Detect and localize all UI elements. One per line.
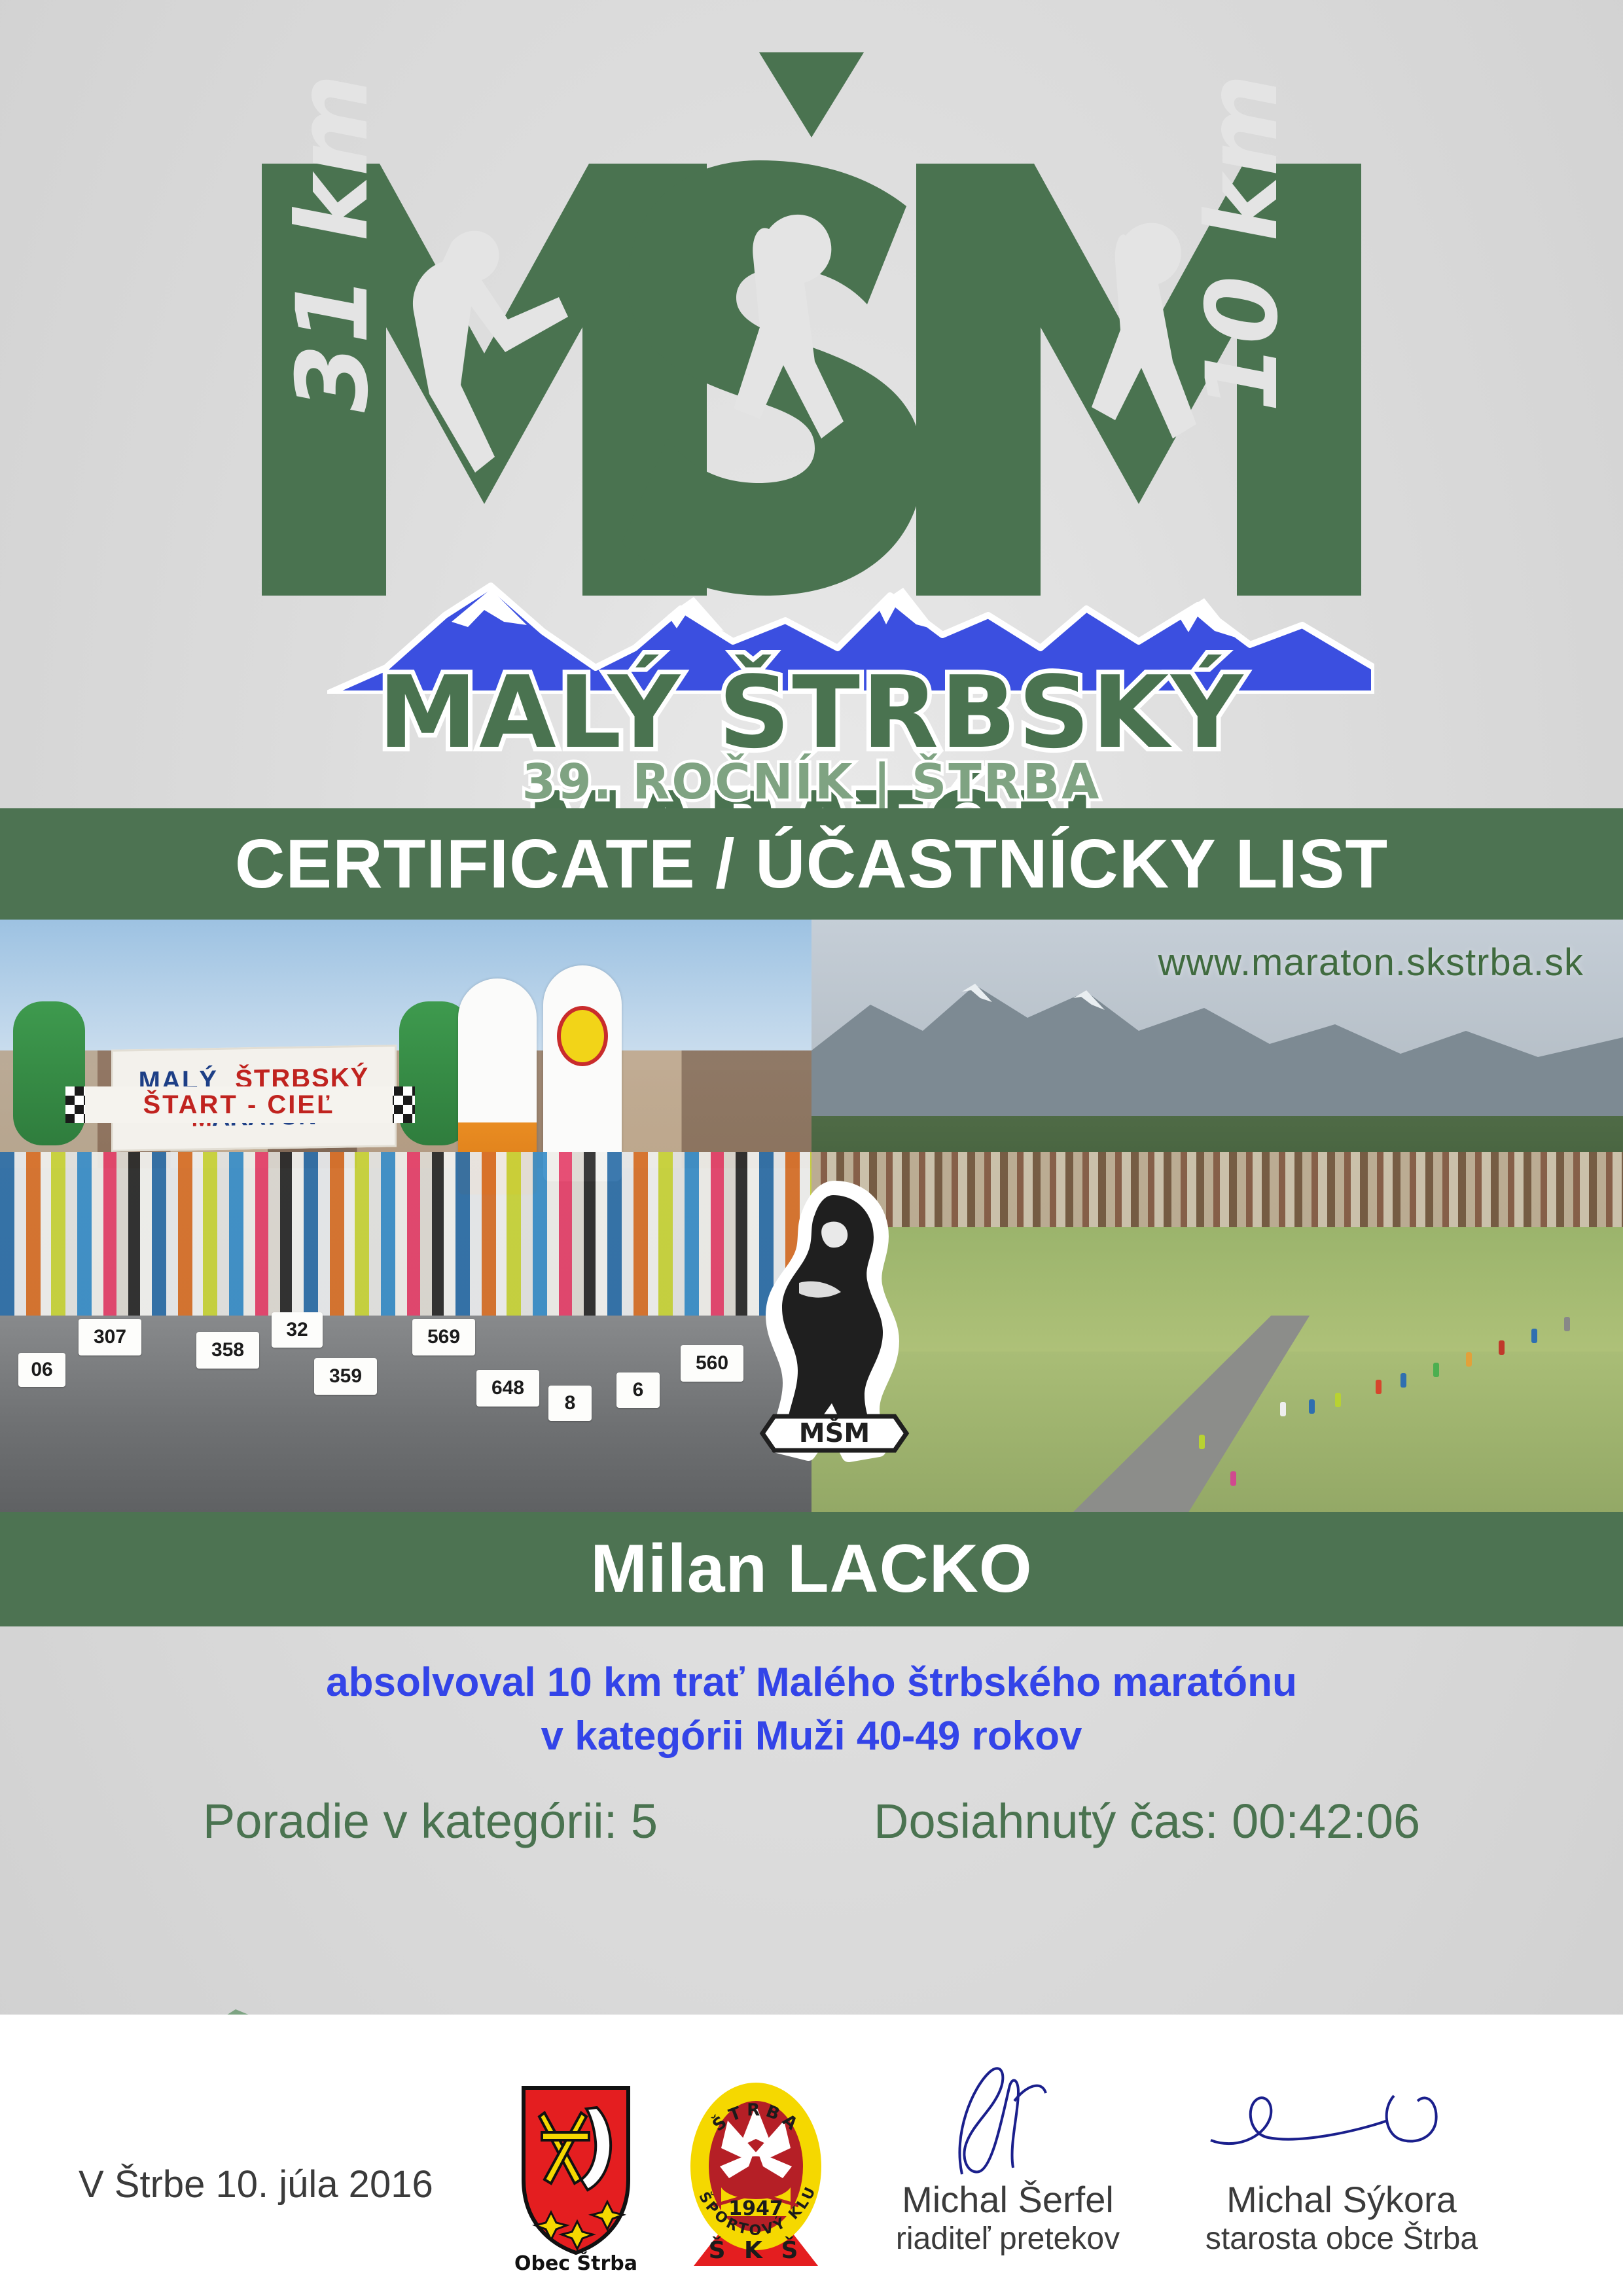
time-value: 00:42:06	[1232, 1794, 1420, 1848]
detail-line-1: absolvoval 10 km trať Malého štrbského m…	[0, 1656, 1623, 1710]
rank-label: Poradie v kategórii:	[203, 1794, 617, 1848]
course-runner	[1376, 1380, 1382, 1394]
logo-subtitle: 39. ROČNÍK | ŠTRBA	[170, 754, 1453, 810]
participant-stats: Poradie v kategórii: 5 Dosiahnutý čas: 0…	[0, 1793, 1623, 1849]
course-runner	[1564, 1317, 1570, 1331]
photo-course-landscape: www.maraton.skstrba.sk	[811, 920, 1623, 1512]
signature-role: riaditeľ pretekov	[838, 2220, 1178, 2258]
signature-role: starosta obce Štrba	[1171, 2220, 1512, 2258]
course-runner	[1499, 1340, 1505, 1355]
signature-scribble	[838, 2062, 1178, 2179]
bib-number: 569	[412, 1319, 475, 1355]
msm-runner-badge-icon: MŠM	[736, 1178, 933, 1466]
distance-right-label: 10 km	[1186, 74, 1300, 412]
certificate-page: 31 km 10 km MALÝ ŠTRBSKÝ MARATÓN 39. ROČ…	[0, 0, 1623, 2296]
bib-number: 6	[616, 1372, 660, 1408]
course-runner	[1400, 1373, 1406, 1388]
sks-flag-emblem	[557, 1006, 608, 1066]
footer: V Štrbe 10. júla 2016 Obec Štrba	[0, 2042, 1623, 2296]
bib-number: 359	[314, 1358, 377, 1395]
course-runner	[1230, 1471, 1236, 1486]
participant-details: absolvoval 10 km trať Malého štrbského m…	[0, 1656, 1623, 1763]
distance-left-label: 31 km	[276, 74, 390, 412]
signature-name: Michal Šerfel	[838, 2179, 1178, 2220]
course-runner	[1199, 1435, 1205, 1449]
certificate-title: CERTIFICATE / ÚČASTNÍCKY LIST	[235, 825, 1388, 904]
course-runner	[1309, 1399, 1315, 1414]
flag-sks	[543, 965, 622, 1181]
bib-number: 06	[18, 1353, 65, 1387]
signature-scribble	[1171, 2062, 1512, 2179]
msm-letters-icon: 31 km 10 km	[170, 46, 1453, 596]
website-url[interactable]: www.maraton.skstrba.sk	[1158, 941, 1584, 984]
bib-number: 358	[196, 1332, 259, 1369]
obec-strba-coat-of-arms-icon: Obec Štrba	[504, 2081, 648, 2271]
time-stat: Dosiahnutý čas: 00:42:06	[874, 1793, 1420, 1849]
photo-start-line: MALÝ ŠTRBSKÝ MARATÓN ŠTART - CIEĽ 307 35…	[0, 920, 811, 1512]
issue-date: V Štrbe 10. júla 2016	[79, 2162, 433, 2206]
course-runner	[1433, 1363, 1439, 1377]
arch-leg-left	[13, 1001, 85, 1145]
rank-value: 5	[631, 1794, 658, 1848]
course-runner	[1466, 1352, 1472, 1367]
signature-block-director: Michal Šerfel riaditeľ pretekov	[838, 2062, 1178, 2257]
detail-line-2: v kategórii Muži 40-49 rokov	[0, 1710, 1623, 1763]
bib-number: 648	[476, 1370, 539, 1407]
participant-name-bar: Milan LACKO	[0, 1512, 1623, 1626]
time-label: Dosiahnutý čas:	[874, 1794, 1219, 1848]
sks-bottom-text: Š K Š	[709, 2236, 804, 2264]
sks-year: 1947	[728, 2197, 783, 2220]
bib-number: 32	[272, 1312, 323, 1348]
bib-number: 8	[548, 1386, 592, 1421]
village-band	[811, 1152, 1623, 1237]
obec-caption: Obec Štrba	[514, 2251, 637, 2271]
msm-logo: 31 km 10 km MALÝ ŠTRBSKÝ MARATÓN 39. ROČ…	[170, 46, 1453, 596]
start-finish-banner: ŠTART - CIEĽ	[85, 1086, 393, 1123]
signature-block-mayor: Michal Sýkora starosta obce Štrba	[1171, 2062, 1512, 2257]
bib-number: 560	[681, 1345, 743, 1382]
sks-club-emblem-icon: 1947 ŠTRBA ŠPORTOVÝ KLUB Š K Š	[681, 2075, 831, 2271]
badge-label: MŠM	[799, 1417, 870, 1448]
course-runner	[1280, 1402, 1286, 1416]
rank-stat: Poradie v kategórii: 5	[203, 1793, 658, 1849]
course-runner	[1335, 1393, 1341, 1407]
certificate-title-bar: CERTIFICATE / ÚČASTNÍCKY LIST	[0, 808, 1623, 920]
logo-zone: 31 km 10 km MALÝ ŠTRBSKÝ MARATÓN 39. ROČ…	[0, 0, 1623, 795]
bib-number: 307	[79, 1319, 141, 1355]
course-runner	[1531, 1329, 1537, 1343]
signature-name: Michal Sýkora	[1171, 2179, 1512, 2220]
participant-name: Milan LACKO	[590, 1530, 1032, 1608]
